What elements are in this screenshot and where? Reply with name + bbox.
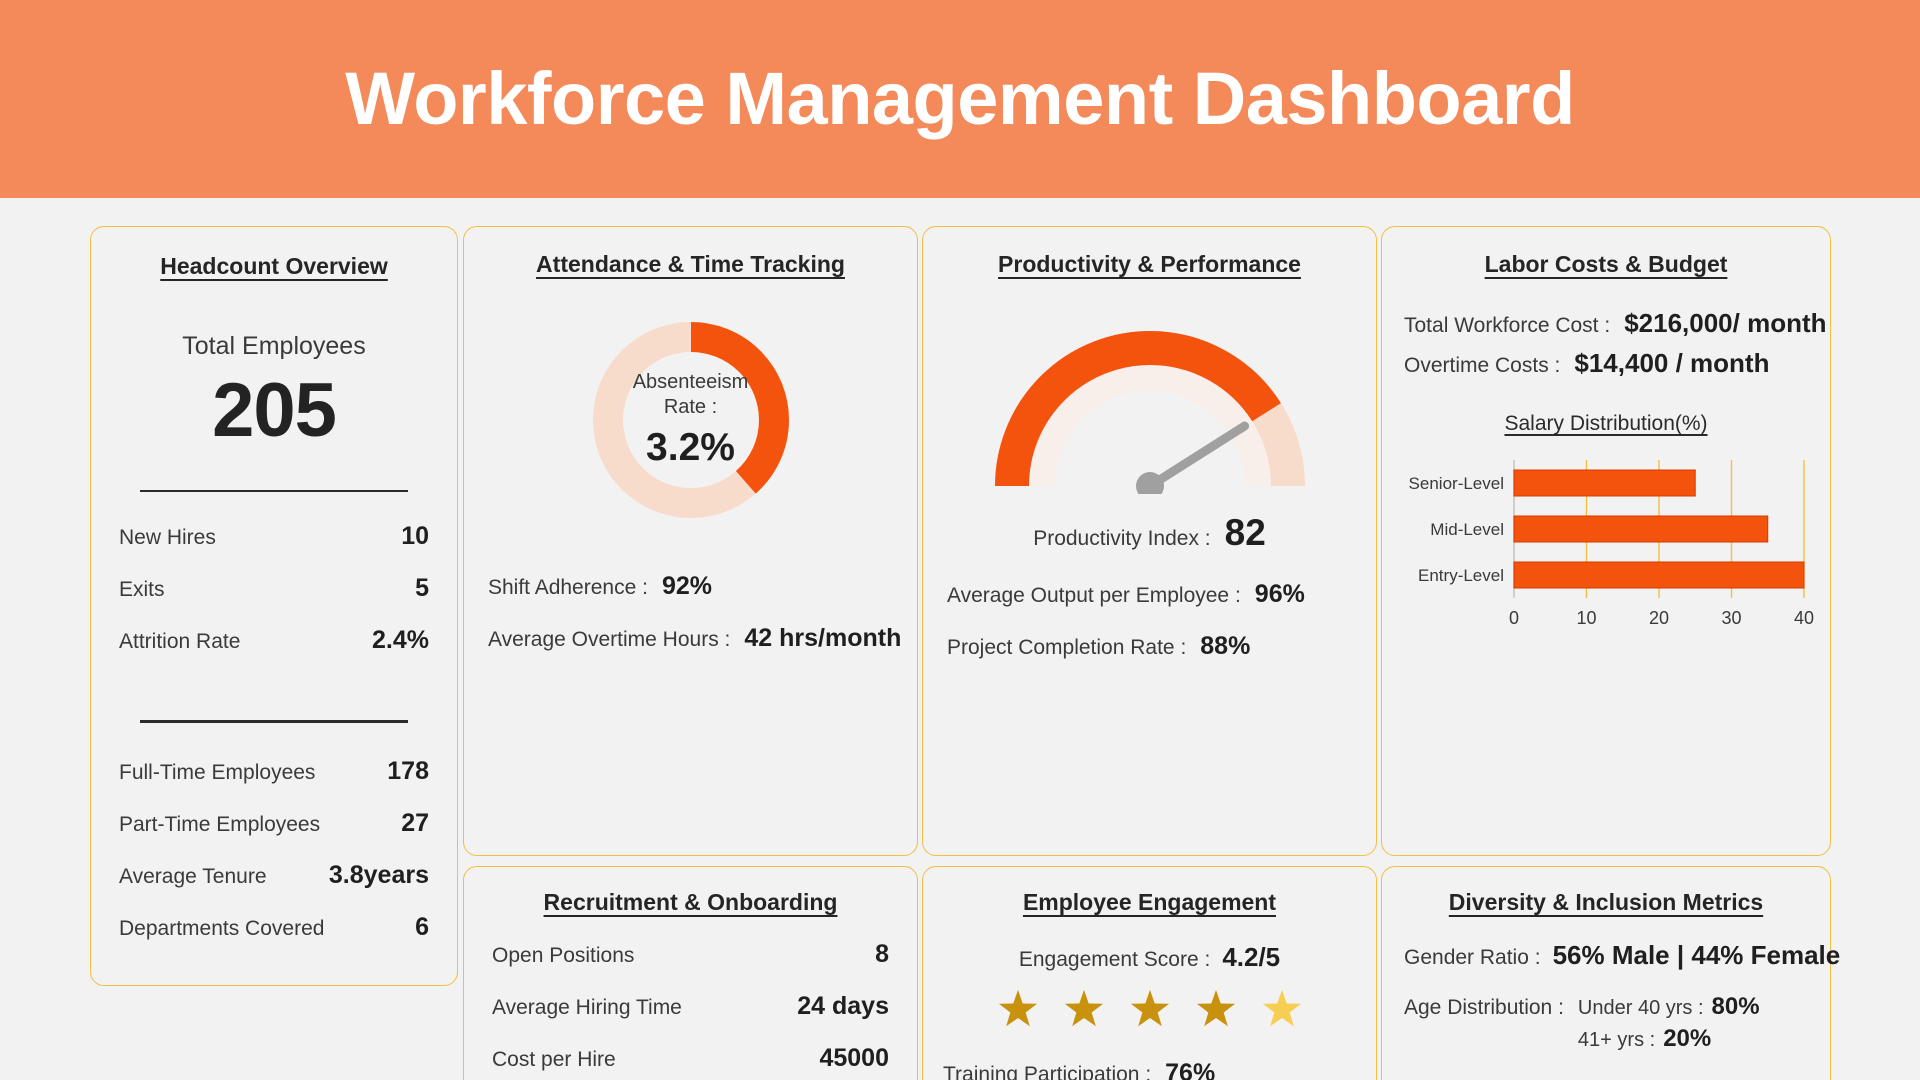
y-tick-label: Entry-Level bbox=[1418, 566, 1504, 585]
metric-value: 27 bbox=[401, 809, 429, 838]
list-item: Open Positions 8 bbox=[464, 940, 917, 992]
star-icon bbox=[1195, 989, 1237, 1031]
metric-label: Average Overtime Hours : bbox=[488, 628, 730, 652]
y-tick-label: Senior-Level bbox=[1409, 474, 1504, 493]
metric-value: $14,400 / month bbox=[1574, 348, 1769, 379]
spacer bbox=[1404, 975, 1830, 993]
metric-label: Average Hiring Time bbox=[492, 996, 682, 1020]
metric-value: 20% bbox=[1663, 1025, 1711, 1053]
headcount-group-one: New Hires 10 Exits 5 Attrition Rate 2.4% bbox=[91, 522, 457, 678]
list-item: Cost per Hire 45000 bbox=[464, 1044, 917, 1080]
star-shape bbox=[1262, 990, 1300, 1026]
productivity-metrics: Average Output per Employee : 96% Projec… bbox=[923, 580, 1376, 684]
list-item: Project Completion Rate : 88% bbox=[923, 632, 1376, 684]
salary-distribution-bar-chart: Senior-LevelMid-LevelEntry-Level01020304… bbox=[1396, 452, 1816, 632]
age-distribution-values: Under 40 yrs : 80% 41+ yrs : 20% bbox=[1578, 993, 1760, 1057]
age-distribution-row: Age Distribution : Under 40 yrs : 80% 41… bbox=[1404, 993, 1830, 1057]
metric-value: 82 bbox=[1225, 512, 1266, 554]
metric-value: 10 bbox=[401, 522, 429, 551]
absenteeism-donut-chart: Absenteeism Rate : 3.2% bbox=[587, 316, 795, 524]
list-item: Training Participation : 76% bbox=[923, 1059, 1376, 1080]
metric-value: 56% Male | 44% Female bbox=[1553, 940, 1841, 971]
bar-entry-level bbox=[1514, 562, 1804, 588]
metric-label: Total Workforce Cost : bbox=[1404, 314, 1610, 338]
list-item: Departments Covered 6 bbox=[119, 913, 429, 965]
metric-label: Departments Covered bbox=[119, 917, 324, 941]
star-shape bbox=[1130, 990, 1168, 1026]
card-title-labor: Labor Costs & Budget bbox=[1382, 251, 1830, 278]
spacer bbox=[1404, 1061, 1830, 1079]
productivity-index-readout: Productivity Index : 82 bbox=[923, 512, 1376, 554]
metric-label: Average Output per Employee : bbox=[947, 584, 1241, 608]
engagement-metrics: Training Participation : 76% Turnover Ri… bbox=[923, 1059, 1376, 1080]
labor-metrics: Total Workforce Cost : $216,000/ month O… bbox=[1382, 308, 1830, 388]
metric-label: Overtime Costs : bbox=[1404, 354, 1560, 378]
list-item: Overtime Costs : $14,400 / month bbox=[1382, 348, 1830, 388]
metric-value: 8 bbox=[875, 940, 889, 969]
card-title-recruitment: Recruitment & Onboarding bbox=[464, 889, 917, 916]
metric-value: 4.2/5 bbox=[1222, 942, 1280, 973]
metric-label: Gender Ratio : bbox=[1404, 946, 1541, 970]
card-title-attendance: Attendance & Time Tracking bbox=[464, 251, 917, 278]
metric-label: Open Positions bbox=[492, 944, 634, 968]
gauge-svg bbox=[975, 314, 1325, 494]
star-icon bbox=[1129, 989, 1171, 1031]
list-item: Part-Time Employees 27 bbox=[119, 809, 429, 861]
list-item: 41+ yrs : 20% bbox=[1578, 1025, 1760, 1057]
list-item: Average Hiring Time 24 days bbox=[464, 992, 917, 1044]
x-tick-label: 40 bbox=[1794, 608, 1814, 628]
card-title-diversity: Diversity & Inclusion Metrics bbox=[1382, 889, 1830, 916]
attendance-metrics: Shift Adherence : 92% Average Overtime H… bbox=[464, 572, 917, 676]
salary-distribution-title: Salary Distribution(%) bbox=[1382, 412, 1830, 436]
gauge-needle bbox=[1150, 426, 1245, 486]
list-item: Shift Adherence : 92% bbox=[464, 572, 917, 624]
metric-label: Attrition Rate bbox=[119, 630, 240, 654]
list-item: Average Output per Employee : 96% bbox=[923, 580, 1376, 632]
metric-label: Training Participation : bbox=[943, 1063, 1151, 1080]
metric-value: 178 bbox=[387, 757, 429, 786]
page-title: Workforce Management Dashboard bbox=[345, 62, 1575, 136]
card-attendance-time-tracking: Attendance & Time Tracking Absenteeism R… bbox=[463, 226, 918, 856]
metric-label: Exits bbox=[119, 578, 165, 602]
donut-svg bbox=[587, 316, 795, 524]
card-employee-engagement: Employee Engagement Engagement Score : 4… bbox=[922, 866, 1377, 1080]
diversity-metrics: Gender Ratio : 56% Male | 44% Female Age… bbox=[1382, 940, 1830, 1080]
card-productivity-performance: Productivity & Performance Productivity … bbox=[922, 226, 1377, 856]
metric-value: 24 days bbox=[797, 992, 889, 1021]
headcount-group-two: Full-Time Employees 178 Part-Time Employ… bbox=[91, 757, 457, 965]
card-diversity-inclusion: Diversity & Inclusion Metrics Gender Rat… bbox=[1381, 866, 1831, 1080]
metric-value: 76% bbox=[1165, 1059, 1215, 1080]
metric-value: 96% bbox=[1255, 580, 1305, 609]
x-tick-label: 0 bbox=[1509, 608, 1519, 628]
list-item: Productivity Index : 82 bbox=[923, 512, 1376, 554]
metric-value: 5 bbox=[415, 574, 429, 603]
productivity-gauge-chart bbox=[975, 314, 1325, 494]
metric-value: 6 bbox=[415, 913, 429, 942]
star-shape bbox=[998, 990, 1036, 1026]
metric-label: Under 40 yrs : bbox=[1578, 997, 1704, 1020]
star-icon bbox=[1063, 989, 1105, 1031]
metric-value: $216,000/ month bbox=[1624, 308, 1826, 339]
star-rating bbox=[923, 989, 1376, 1031]
metric-value: 88% bbox=[1200, 632, 1250, 661]
y-tick-label: Mid-Level bbox=[1430, 520, 1504, 539]
divider-line bbox=[140, 720, 408, 722]
metric-label: Full-Time Employees bbox=[119, 761, 315, 785]
metric-value: 3.8years bbox=[329, 861, 429, 890]
metric-value: 45000 bbox=[819, 1044, 889, 1073]
x-tick-label: 20 bbox=[1649, 608, 1669, 628]
star-icon bbox=[997, 989, 1039, 1031]
bar-senior-level bbox=[1514, 470, 1695, 496]
gender-ratio-row: Gender Ratio : 56% Male | 44% Female bbox=[1404, 940, 1830, 971]
engagement-score-row: Engagement Score : 4.2/5 bbox=[923, 942, 1376, 973]
metric-label: Part-Time Employees bbox=[119, 813, 320, 837]
metric-label: New Hires bbox=[119, 526, 216, 550]
metric-label: Productivity Index : bbox=[1033, 527, 1210, 551]
metric-label: 41+ yrs : bbox=[1578, 1029, 1655, 1052]
dashboard-header: Workforce Management Dashboard bbox=[0, 0, 1920, 198]
x-tick-label: 10 bbox=[1576, 608, 1596, 628]
metric-label: Age Distribution : bbox=[1404, 996, 1564, 1020]
list-item: Exits 5 bbox=[119, 574, 429, 626]
x-tick-label: 30 bbox=[1721, 608, 1741, 628]
list-item: Full-Time Employees 178 bbox=[119, 757, 429, 809]
list-item: Attrition Rate 2.4% bbox=[119, 626, 429, 678]
list-item: New Hires 10 bbox=[119, 522, 429, 574]
star-icon bbox=[1261, 989, 1303, 1031]
list-item: Under 40 yrs : 80% bbox=[1578, 993, 1760, 1025]
bar-mid-level bbox=[1514, 516, 1768, 542]
metric-value: 2.4% bbox=[372, 626, 429, 655]
list-item: Average Tenure 3.8years bbox=[119, 861, 429, 913]
metric-label: Engagement Score : bbox=[1019, 948, 1210, 972]
card-headcount-overview: Headcount Overview Total Employees 205 N… bbox=[90, 226, 458, 986]
list-item: Total Workforce Cost : $216,000/ month bbox=[1382, 308, 1830, 348]
star-shape bbox=[1064, 990, 1102, 1026]
card-title-headcount: Headcount Overview bbox=[91, 253, 457, 280]
star-shape bbox=[1196, 990, 1234, 1026]
card-recruitment-onboarding: Recruitment & Onboarding Open Positions … bbox=[463, 866, 918, 1080]
card-title-engagement: Employee Engagement bbox=[923, 889, 1376, 916]
metric-value: 80% bbox=[1712, 993, 1760, 1021]
metric-value: 92% bbox=[662, 572, 712, 601]
metric-value: 42 hrs/month bbox=[744, 624, 901, 653]
divider-line bbox=[140, 490, 408, 492]
list-item: Average Overtime Hours : 42 hrs/month bbox=[464, 624, 917, 676]
dashboard-grid: Headcount Overview Total Employees 205 N… bbox=[0, 198, 1920, 1080]
metric-label: Cost per Hire bbox=[492, 1048, 616, 1072]
card-title-productivity: Productivity & Performance bbox=[923, 251, 1376, 278]
metric-label: Project Completion Rate : bbox=[947, 636, 1186, 660]
recruitment-metrics: Open Positions 8 Average Hiring Time 24 … bbox=[464, 940, 917, 1080]
card-labor-costs-budget: Labor Costs & Budget Total Workforce Cos… bbox=[1381, 226, 1831, 856]
metric-label: Average Tenure bbox=[119, 865, 267, 889]
metric-label: Shift Adherence : bbox=[488, 576, 648, 600]
total-employees-label: Total Employees bbox=[91, 332, 457, 361]
bar-chart-svg: Senior-LevelMid-LevelEntry-Level01020304… bbox=[1396, 452, 1816, 632]
total-employees-value: 205 bbox=[91, 367, 457, 454]
